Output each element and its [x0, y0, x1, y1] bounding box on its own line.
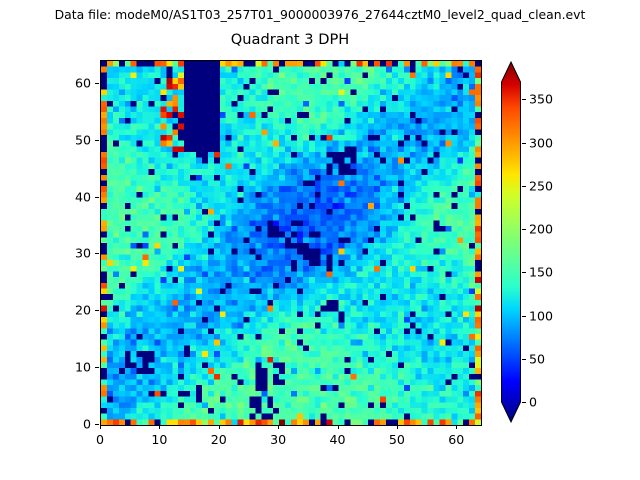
colorbar-tick-mark: [522, 229, 526, 230]
y-tick-mark: [95, 197, 99, 198]
x-tick-label: 0: [96, 432, 104, 447]
x-tick-mark: [338, 425, 339, 429]
colorbar-tick-mark: [522, 402, 526, 403]
x-tick-mark: [219, 425, 220, 429]
x-tick-mark: [397, 425, 398, 429]
y-tick-mark: [95, 253, 99, 254]
colorbar-tick-label: 200: [529, 222, 553, 237]
data-file-supertitle: Data file: modeM0/AS1T03_257T01_90000039…: [0, 7, 640, 22]
x-tick-label: 10: [151, 432, 167, 447]
y-tick-label: 0: [0, 417, 91, 432]
colorbar-tick-mark: [522, 186, 526, 187]
x-tick-mark: [100, 425, 101, 429]
colorbar-tick-label: 0: [529, 395, 537, 410]
y-tick-label: 60: [0, 75, 91, 90]
y-tick-label: 20: [0, 303, 91, 318]
y-tick-label: 40: [0, 189, 91, 204]
plot-title: Quadrant 3 DPH: [0, 31, 580, 48]
colorbar-gradient: [500, 60, 522, 424]
colorbar-tick-mark: [522, 143, 526, 144]
y-tick-label: 50: [0, 132, 91, 147]
x-tick-mark: [278, 425, 279, 429]
colorbar-tick-label: 300: [529, 135, 553, 150]
colorbar-tick-label: 50: [529, 351, 545, 366]
colorbar-tick-label: 150: [529, 265, 553, 280]
detector-pixel-heatmap: [101, 61, 481, 425]
matplotlib-figure: Data file: modeM0/AS1T03_257T01_90000039…: [0, 0, 640, 480]
y-tick-mark: [95, 140, 99, 141]
x-tick-mark: [456, 425, 457, 429]
x-tick-mark: [159, 425, 160, 429]
colorbar-tick-label: 250: [529, 178, 553, 193]
heatmap-axes: [100, 60, 482, 426]
colorbar-tick-mark: [522, 359, 526, 360]
x-tick-label: 60: [448, 432, 464, 447]
x-tick-label: 20: [211, 432, 227, 447]
y-tick-mark: [95, 310, 99, 311]
y-tick-mark: [95, 367, 99, 368]
x-tick-label: 50: [389, 432, 405, 447]
colorbar-tick-mark: [522, 99, 526, 100]
x-tick-label: 40: [329, 432, 345, 447]
colorbar-tick-mark: [522, 272, 526, 273]
colorbar-tick-label: 100: [529, 308, 553, 323]
y-tick-mark: [95, 83, 99, 84]
colorbar: 050100150200250300350: [500, 60, 522, 424]
x-tick-label: 30: [270, 432, 286, 447]
colorbar-tick-label: 350: [529, 92, 553, 107]
colorbar-tick-mark: [522, 316, 526, 317]
y-tick-label: 30: [0, 246, 91, 261]
y-tick-mark: [95, 424, 99, 425]
y-tick-label: 10: [0, 360, 91, 375]
